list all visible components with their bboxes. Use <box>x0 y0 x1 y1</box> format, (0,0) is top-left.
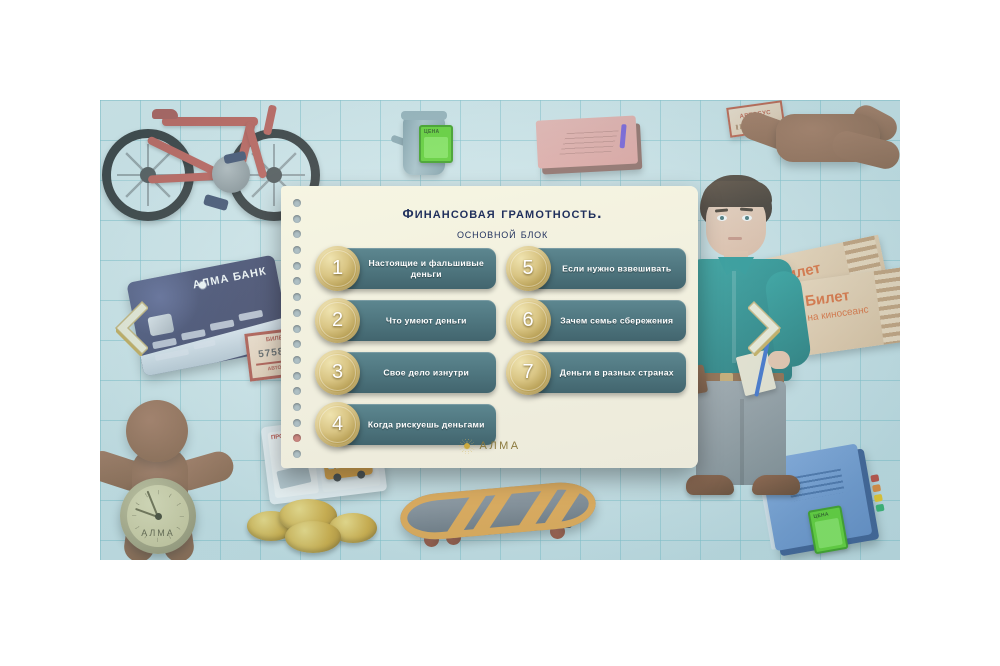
chevron-left-icon[interactable] <box>114 300 148 356</box>
menu-item-label: Деньги в разных странах <box>556 367 679 378</box>
menu-item-label: Что умеют деньги <box>365 315 488 326</box>
sunburst-icon <box>459 438 475 454</box>
logo-text: АЛМА <box>480 440 521 452</box>
kettle-illustration: ЦЕНА <box>397 107 453 179</box>
menu-item-label: Настоящие и фальшивые деньги <box>365 258 488 280</box>
next-button[interactable] <box>748 300 782 356</box>
menu-card: Финансовая грамотность. Основной блок 1 … <box>281 186 698 468</box>
menu-item-3[interactable]: 3 Свое дело изнутри <box>315 352 496 393</box>
coins-illustration <box>245 495 375 553</box>
page-title: Финансовая грамотность. Основной блок <box>321 202 684 241</box>
punch-holes <box>291 199 303 458</box>
menu-item-6[interactable]: 6 Зачем семье сбережения <box>506 300 687 341</box>
menu-number-badge: 7 <box>506 350 551 395</box>
menu-item-label: Когда рискуешь деньгами <box>365 419 488 430</box>
letterbox-right <box>900 0 1000 666</box>
price-tag-label: ЦЕНА <box>424 129 439 135</box>
bank-card-brand: АЛМА БАНК <box>192 265 268 291</box>
letterbox-left <box>0 0 100 666</box>
clock-brand-label: АЛМА <box>120 528 196 538</box>
letterbox-bottom <box>0 560 1000 666</box>
screen: ЦЕНА АВТОБУС АЛМА БАНК <box>0 0 1000 666</box>
menu-number-badge: 6 <box>506 298 551 343</box>
menu-number-badge: 4 <box>315 402 360 447</box>
menu-number-badge: 2 <box>315 298 360 343</box>
menu-grid: 1 Настоящие и фальшивые деньги 2 Что уме… <box>315 248 686 445</box>
menu-item-1[interactable]: 1 Настоящие и фальшивые деньги <box>315 248 496 289</box>
title-sub: Основной блок <box>321 226 684 241</box>
card-chip-icon <box>147 313 174 336</box>
menu-number-badge: 5 <box>506 246 551 291</box>
prev-button[interactable] <box>114 300 148 356</box>
title-main: Финансовая грамотность. <box>321 202 684 224</box>
price-tag-kettle: ЦЕНА <box>419 125 453 163</box>
menu-item-2[interactable]: 2 Что умеют деньги <box>315 300 496 341</box>
menu-number-badge: 1 <box>315 246 360 291</box>
menu-number-badge: 3 <box>315 350 360 395</box>
price-tag-book: ЦЕНА <box>807 505 848 554</box>
menu-column-left: 1 Настоящие и фальшивые деньги 2 Что уме… <box>315 248 496 445</box>
skateboard-illustration <box>400 482 600 560</box>
menu-item-label: Свое дело изнутри <box>365 367 488 378</box>
menu-column-right: 5 Если нужно взвешивать 6 Зачем семье сб… <box>506 248 687 445</box>
alma-clock-illustration: АЛМА <box>120 478 196 554</box>
menu-item-5[interactable]: 5 Если нужно взвешивать <box>506 248 687 289</box>
letterbox-top <box>0 0 1000 100</box>
menu-item-label: Зачем семье сбережения <box>556 315 679 326</box>
menu-item-7[interactable]: 7 Деньги в разных странах <box>506 352 687 393</box>
menu-item-label: Если нужно взвешивать <box>556 263 679 274</box>
pink-notebook-illustration <box>536 115 643 174</box>
chevron-right-icon[interactable] <box>748 300 782 356</box>
